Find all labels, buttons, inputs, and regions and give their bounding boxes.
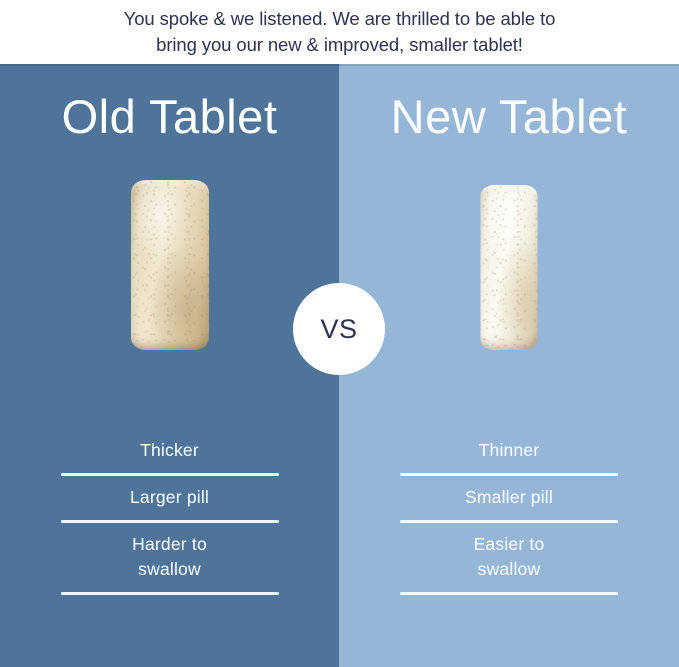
- feature-divider: [61, 592, 279, 595]
- pill-stage-new: [339, 164, 679, 454]
- pill-stage-old: [0, 164, 339, 454]
- comparison-section: Old Tablet Thicker Larger pill Harder to…: [0, 64, 679, 667]
- feature-label: Thicker: [61, 429, 279, 473]
- feature-label: Larger pill: [61, 476, 279, 520]
- old-tablet-pill-image: [131, 180, 209, 350]
- feature-label: Smaller pill: [400, 476, 618, 520]
- panel-title-new: New Tablet: [339, 89, 679, 145]
- headline-line-1: You spoke & we listened. We are thrilled…: [30, 6, 650, 32]
- panel-new-tablet: New Tablet Thinner Smaller pill Easier t…: [339, 64, 679, 667]
- feature-list-old: Thicker Larger pill Harder toswallow: [61, 429, 279, 595]
- feature-label-line-1: Easier to: [474, 534, 545, 554]
- new-tablet-pill-image: [481, 185, 538, 350]
- feature-row: Larger pill: [61, 476, 279, 520]
- feature-label-line-2: swallow: [61, 557, 279, 582]
- pill-texture-new: [481, 185, 538, 350]
- headline: You spoke & we listened. We are thrilled…: [30, 6, 650, 58]
- feature-label: Thinner: [400, 429, 618, 473]
- panel-old-tablet: Old Tablet Thicker Larger pill Harder to…: [0, 64, 339, 667]
- feature-row: Harder toswallow: [61, 523, 279, 592]
- vs-badge: VS: [293, 283, 385, 375]
- vs-badge-label: VS: [320, 314, 357, 345]
- pill-texture-old: [131, 180, 209, 350]
- feature-label-line-1: Harder to: [132, 534, 207, 554]
- feature-list-new: Thinner Smaller pill Easier toswallow: [400, 429, 618, 595]
- headline-line-2: bring you our new & improved, smaller ta…: [30, 32, 650, 58]
- feature-row: Thinner: [400, 429, 618, 473]
- header-banner: You spoke & we listened. We are thrilled…: [0, 0, 679, 64]
- feature-divider: [400, 592, 618, 595]
- feature-row: Smaller pill: [400, 476, 618, 520]
- feature-label: Harder toswallow: [61, 523, 279, 592]
- feature-label-line-2: swallow: [400, 557, 618, 582]
- panel-title-old: Old Tablet: [0, 89, 339, 145]
- feature-row: Thicker: [61, 429, 279, 473]
- feature-row: Easier toswallow: [400, 523, 618, 592]
- feature-label: Easier toswallow: [400, 523, 618, 592]
